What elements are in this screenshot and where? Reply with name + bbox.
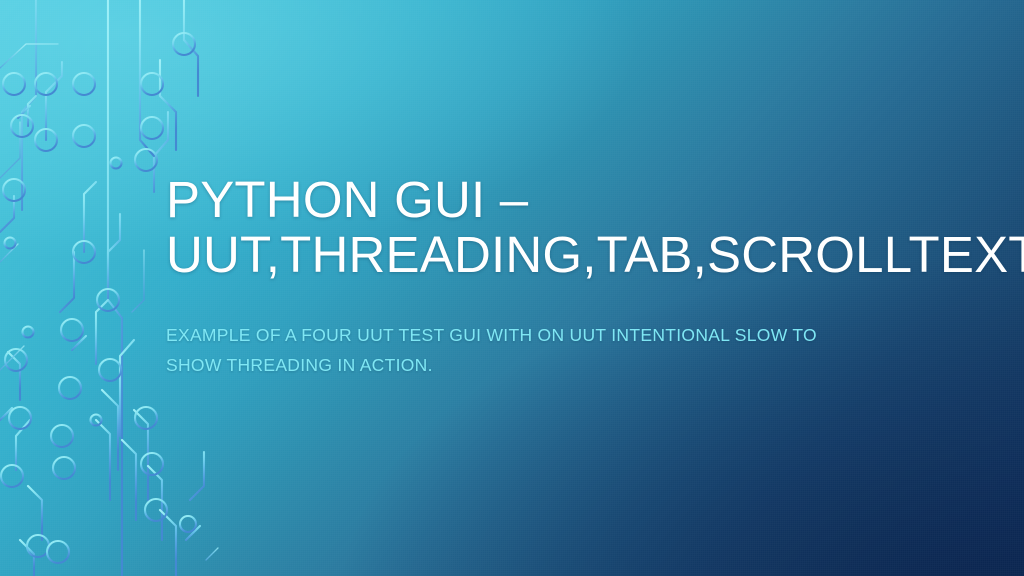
slide-subtitle: Example of a four UUT test GUI with on U… xyxy=(166,320,846,380)
page-title: Python GUI – UUT,Threading,Tab,ScrollTex… xyxy=(166,172,886,282)
presentation-slide: Python GUI – UUT,Threading,Tab,ScrollTex… xyxy=(0,0,1024,576)
slide-text-block: Python GUI – UUT,Threading,Tab,ScrollTex… xyxy=(166,172,886,380)
